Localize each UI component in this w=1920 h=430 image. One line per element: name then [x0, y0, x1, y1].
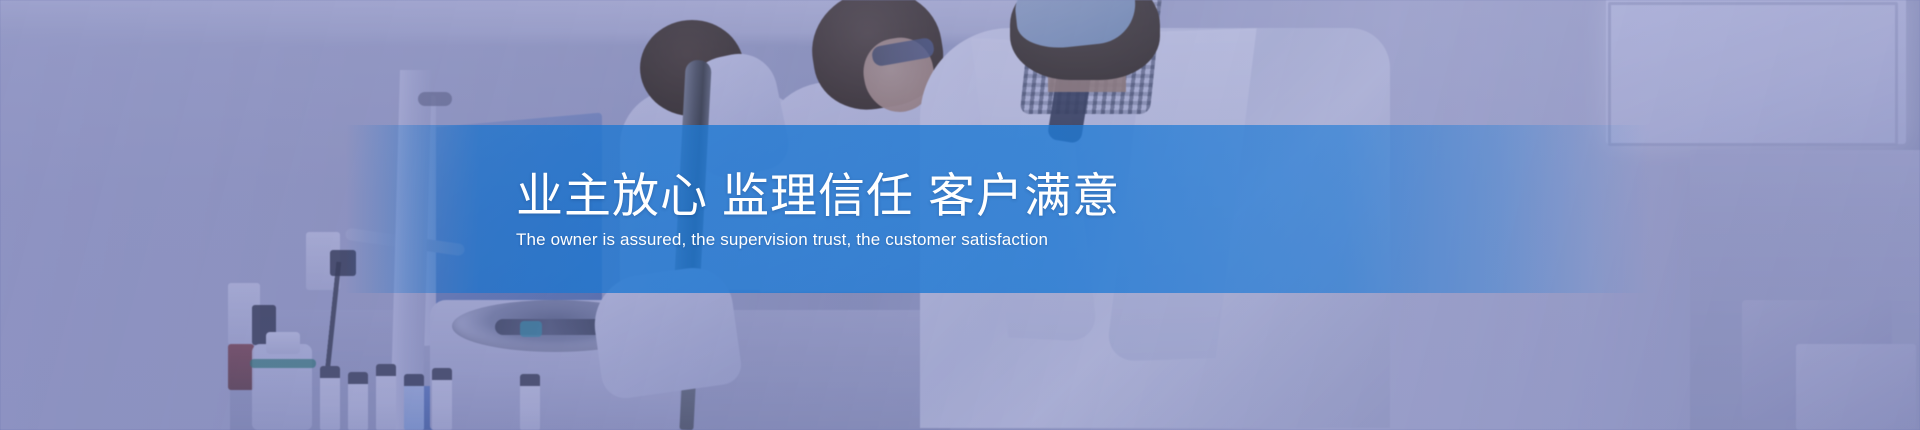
slogan-band-content: 业主放心 监理信任 客户满意 The owner is assured, the… [0, 125, 1920, 293]
hero-banner: 业主放心 监理信任 客户满意 The owner is assured, the… [0, 0, 1920, 430]
slogan-band: 业主放心 监理信任 客户满意 The owner is assured, the… [0, 125, 1920, 293]
headline-chinese: 业主放心 监理信任 客户满意 [516, 168, 1120, 223]
subheadline-english: The owner is assured, the supervision tr… [516, 229, 1048, 250]
